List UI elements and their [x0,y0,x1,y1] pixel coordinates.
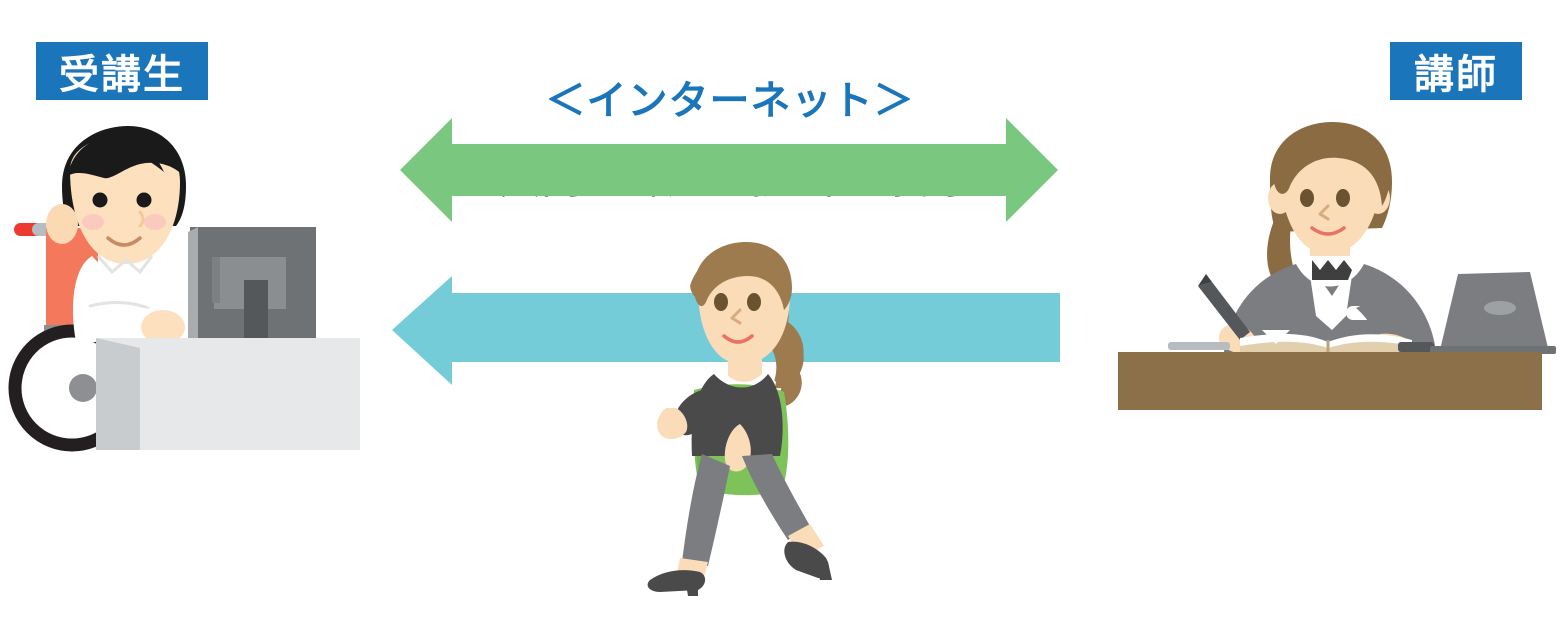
walking-woman-illustration [630,240,860,600]
badge-student: 受講生 [36,42,208,100]
badge-instructor: 講師 [1390,42,1522,100]
diagram-canvas: 受講生 講師 ＜インターネット＞ 質問、課題の提出・添削 訪問指導 [0,0,1560,640]
instructor-desk-illustration [1100,120,1560,440]
green-arrow-label: 質問、課題の提出・添削 [470,145,990,206]
student-wheelchair-illustration [0,120,380,480]
cyan-arrow-label: 訪問指導 [478,300,646,361]
internet-title: ＜インターネット＞ [500,68,960,126]
